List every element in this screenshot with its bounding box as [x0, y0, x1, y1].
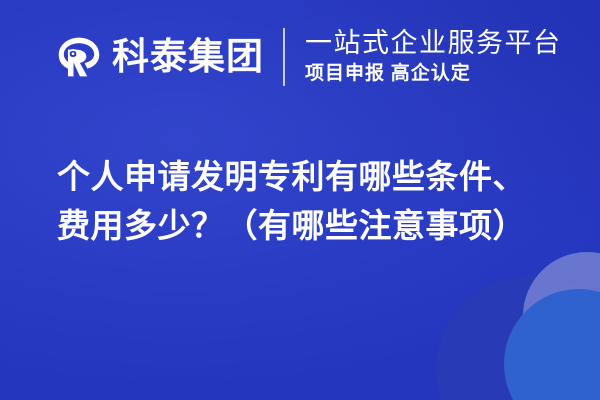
headline-line-2: 费用多少？（有哪些注意事项） — [57, 201, 547, 250]
promo-banner: 科泰集团 一站式企业服务平台 项目申报 高企认定 个人申请发明专利有哪些条件、 … — [0, 0, 600, 400]
page-title: 个人申请发明专利有哪些条件、 费用多少？（有哪些注意事项） — [57, 152, 547, 250]
brand-divider — [283, 28, 285, 86]
brand-name: 科泰集团 — [112, 34, 264, 80]
headline-line-1: 个人申请发明专利有哪些条件、 — [57, 152, 547, 201]
tagline-block: 一站式企业服务平台 项目申报 高企认定 — [305, 26, 562, 88]
ketai-group-logo-icon — [56, 34, 102, 80]
brand-header: 科泰集团 一站式企业服务平台 项目申报 高企认定 — [56, 26, 562, 88]
tagline-sub: 项目申报 高企认定 — [305, 61, 562, 87]
tagline-main: 一站式企业服务平台 — [305, 27, 562, 59]
